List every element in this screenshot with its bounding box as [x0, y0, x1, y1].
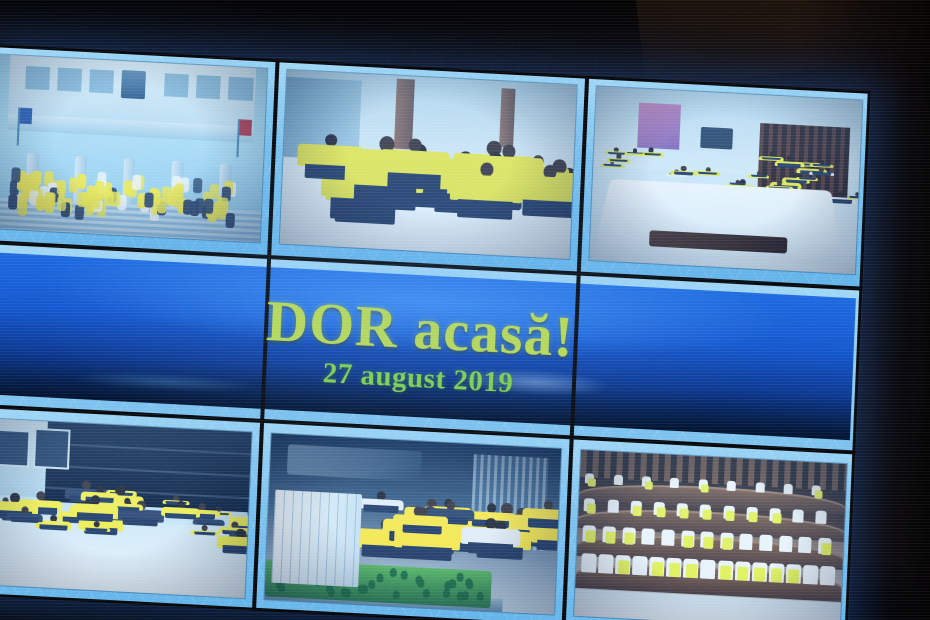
person-legs	[528, 518, 561, 529]
person-figure	[18, 193, 28, 208]
person-figure	[86, 186, 96, 201]
seated-participant	[703, 536, 713, 549]
seated-participant	[788, 569, 800, 584]
person-figure	[11, 167, 21, 182]
seated-participant	[754, 567, 766, 582]
committee-room-session-photo	[589, 86, 862, 274]
person-figure	[378, 137, 451, 230]
screen-light-bloom	[70, 367, 261, 395]
chamber-seat	[816, 511, 828, 525]
parliament-facade-group-photo	[0, 54, 267, 242]
seated-participant	[669, 563, 681, 578]
model-tree	[449, 579, 456, 588]
person-figure	[57, 180, 67, 195]
seated-participant	[720, 565, 732, 580]
seated-participant	[686, 564, 698, 579]
chamber-seat	[759, 534, 773, 551]
chamber-seat	[641, 528, 655, 545]
seated-participant	[585, 530, 595, 543]
seated-participant	[683, 535, 693, 548]
slide-headline: DOR acasă!	[265, 292, 575, 366]
person-figure	[144, 192, 154, 207]
panel-bottom-right	[566, 439, 856, 620]
chamber-seat	[581, 553, 597, 573]
person-figure	[8, 194, 18, 209]
chamber-seat	[632, 556, 648, 576]
wall-monitor	[701, 127, 734, 150]
chamber-seat	[607, 500, 619, 514]
plenary-chamber-photo	[574, 450, 847, 620]
facade-window	[228, 77, 253, 101]
state-coat-of-arms	[121, 70, 146, 99]
chamber-seat	[755, 482, 764, 492]
model-tree	[456, 591, 463, 600]
chamber-seat	[819, 566, 835, 586]
person-figure	[32, 170, 42, 185]
shelf-line	[41, 464, 250, 477]
person-figure	[77, 192, 87, 207]
seated-participant	[652, 562, 664, 577]
seated-participant	[701, 485, 709, 493]
model-tree	[423, 589, 430, 598]
chamber-seat	[598, 554, 614, 574]
seated-participant	[633, 506, 642, 516]
chamber-seat	[798, 536, 812, 553]
person-legs	[165, 512, 195, 519]
seated-participant	[624, 532, 634, 545]
facade-window	[164, 74, 189, 98]
person-figure	[112, 192, 122, 207]
person-legs	[522, 199, 576, 218]
model-building	[271, 490, 362, 587]
person-legs	[467, 542, 513, 556]
seated-participant	[588, 479, 596, 487]
photograph-of-video-wall: DOR acasă! 27 august 2019	[0, 0, 930, 620]
model-tree	[376, 573, 383, 582]
panel-top-right	[581, 76, 871, 287]
seated-participant	[723, 537, 733, 550]
seated-participant	[737, 566, 749, 581]
person-figure	[132, 174, 142, 189]
person-figure	[57, 196, 67, 211]
seated-participant	[702, 510, 711, 520]
model-tree	[466, 580, 473, 589]
architectural-scale-model-photo	[265, 433, 562, 614]
model-tree	[443, 589, 450, 598]
chamber-seat	[793, 509, 805, 523]
seated-participant	[726, 511, 735, 521]
person-figure	[193, 178, 203, 193]
panel-top-centre	[271, 59, 585, 271]
facade-window	[57, 68, 82, 92]
seated-participant	[644, 482, 652, 490]
seated-participant	[679, 508, 688, 518]
person-figure	[5, 506, 43, 556]
facade-window	[89, 70, 114, 94]
facade-window	[25, 66, 50, 90]
seated-participant	[772, 513, 781, 523]
shelf-line	[42, 442, 251, 455]
person-figure	[395, 506, 448, 572]
person-legs	[457, 199, 512, 219]
person-legs	[11, 517, 38, 523]
person-figure	[520, 499, 561, 567]
seated-participant	[605, 531, 615, 544]
person-legs	[403, 524, 442, 534]
chamber-seat	[661, 529, 675, 546]
slide-date: 27 august 2019	[322, 359, 514, 398]
person-figure	[44, 192, 54, 207]
model-tree	[477, 591, 484, 600]
panel-bottom-centre	[256, 423, 570, 620]
framed-artwork	[33, 427, 71, 469]
person-figure	[70, 494, 119, 559]
panel-top-left	[0, 44, 276, 255]
person-figure	[624, 148, 645, 178]
chamber-seat	[802, 565, 818, 585]
flag	[239, 119, 252, 136]
chamber-seat	[783, 484, 792, 494]
person-figure	[174, 182, 184, 197]
model-tree	[357, 585, 364, 594]
model-tree	[392, 590, 399, 599]
seated-participant	[586, 503, 595, 513]
seated-participant	[814, 491, 822, 499]
chamber-seat	[779, 535, 793, 552]
model-tree	[415, 575, 422, 584]
person-figure	[95, 181, 105, 196]
chamber-seat	[727, 481, 736, 491]
person-figure	[190, 201, 200, 216]
chamber-seat	[670, 478, 679, 488]
video-wall: DOR acasă! 27 august 2019	[0, 44, 871, 620]
chamber-seat	[613, 475, 622, 485]
model-tree	[368, 579, 375, 588]
model-tree	[400, 570, 407, 579]
wood-pillar	[499, 88, 516, 148]
conference-table	[593, 179, 841, 266]
seated-participant	[656, 507, 665, 517]
chamber-seat	[700, 559, 716, 579]
person-legs	[77, 512, 113, 522]
person-figure	[36, 195, 46, 210]
seated-participant	[618, 560, 630, 575]
panel-bottom-left	[0, 408, 260, 611]
chamber-seat	[740, 533, 754, 550]
person-legs	[778, 163, 801, 168]
model-building-facade-lines	[271, 490, 362, 587]
framed-artwork	[0, 428, 30, 467]
person-figure	[225, 213, 235, 228]
facade-window	[196, 75, 221, 99]
model-tree	[456, 572, 463, 581]
model-tree	[327, 588, 334, 597]
wall-display-panel	[637, 102, 681, 149]
person-figure	[210, 184, 220, 199]
seated-participant	[821, 542, 831, 555]
person-figure	[447, 161, 523, 259]
flag	[20, 108, 33, 125]
person-figure	[77, 173, 87, 188]
person-legs	[387, 172, 440, 191]
seated-participant	[749, 512, 758, 522]
library-room-seated-group-photo	[0, 418, 252, 598]
marble-hallway-walk-photo	[280, 70, 577, 259]
seated-participant	[771, 568, 783, 583]
person-figure	[159, 499, 201, 555]
person-figure	[204, 198, 214, 213]
model-tree	[390, 568, 397, 577]
